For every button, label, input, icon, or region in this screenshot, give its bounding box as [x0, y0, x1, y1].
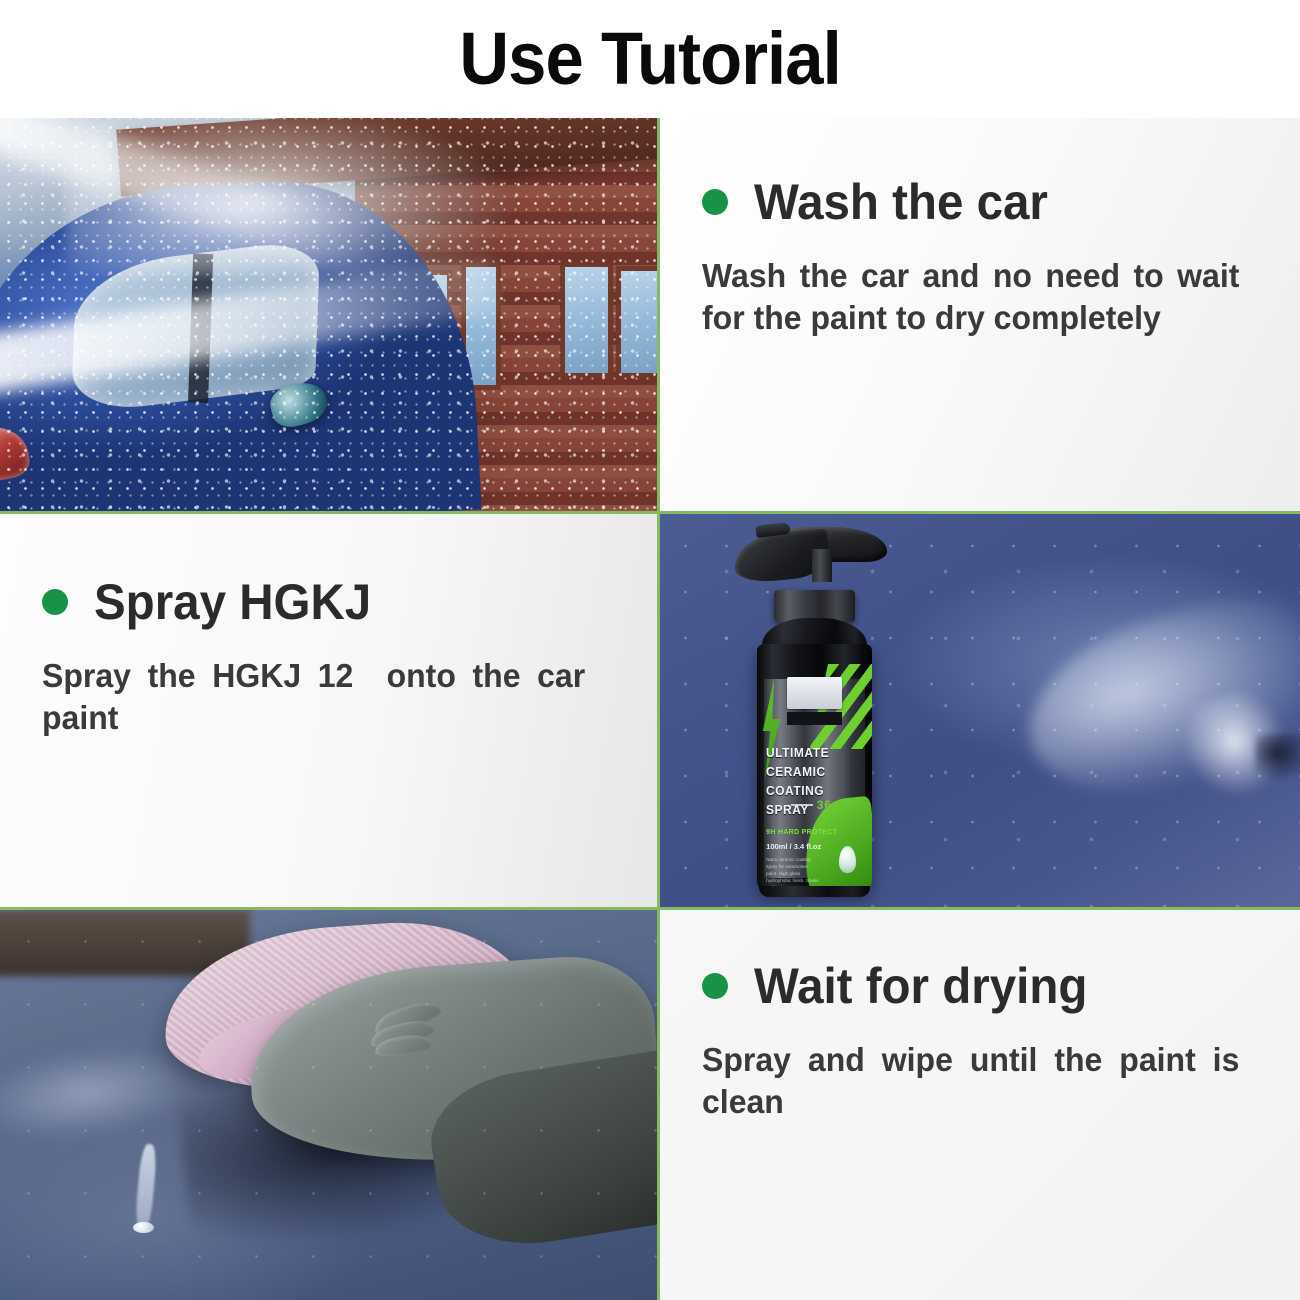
step-2-body: Spray the HGKJ 12 onto the car paint: [42, 655, 585, 741]
bottle-body: ULTIMATE CERAMIC COATING SPRAY 36 9H HAR…: [757, 644, 872, 893]
label-volume-text: 100ml / 3.4 fl.oz: [766, 842, 821, 851]
trigger-stem: [812, 549, 832, 582]
bullet-dot-icon: [702, 189, 728, 215]
step-1-photo-car-wash: [0, 118, 657, 511]
step-1-heading: Wash the car: [754, 176, 1048, 229]
page-header: Use Tutorial: [0, 0, 1300, 118]
spray-bottle: ULTIMATE CERAMIC COATING SPRAY 36 9H HAR…: [730, 520, 896, 897]
step-2-heading: Spray HGKJ: [94, 576, 371, 629]
label-feature-text: 9H HARD PROTECT: [766, 829, 837, 836]
step-2-heading-row: Spray HGKJ: [42, 576, 613, 629]
bottle-base: [759, 886, 870, 897]
step-3-photo-wiping: [0, 910, 657, 1300]
step-2-photo-product-bottle: ULTIMATE CERAMIC COATING SPRAY 36 9H HAR…: [660, 514, 1300, 907]
step-1-text-panel: Wash the car Wash the car and no need to…: [660, 118, 1300, 511]
label-line-2: CERAMIC: [766, 763, 857, 782]
brand-subtitle-bar: [787, 712, 842, 726]
bullet-dot-icon: [42, 589, 68, 615]
step-3-heading-row: Wait for drying: [702, 960, 1256, 1013]
label-line-1: ULTIMATE: [766, 744, 857, 763]
page-title: Use Tutorial: [459, 22, 840, 96]
bullet-dot-icon: [702, 973, 728, 999]
step-2-text-panel: Spray HGKJ Spray the HGKJ 12 onto the ca…: [0, 514, 657, 907]
step-1-heading-row: Wash the car: [702, 176, 1256, 229]
paint-speckles: [0, 910, 657, 1300]
water-drop-icon: [839, 846, 856, 873]
step-1-body: Wash the car and no need to wait for the…: [702, 255, 1239, 341]
bottle-collar: [774, 590, 856, 622]
tutorial-grid: Wash the car Wash the car and no need to…: [0, 118, 1300, 1300]
water-droplet-spray: [0, 118, 657, 511]
trigger-sprayer-head: [740, 520, 893, 595]
label-divider-rule: [791, 804, 813, 806]
brand-logo-block: [787, 677, 842, 709]
step-3-text-panel: Wait for drying Spray and wipe until the…: [660, 910, 1300, 1300]
step-3-body: Spray and wipe until the paint is clean: [702, 1039, 1239, 1125]
step-3-heading: Wait for drying: [754, 960, 1087, 1013]
